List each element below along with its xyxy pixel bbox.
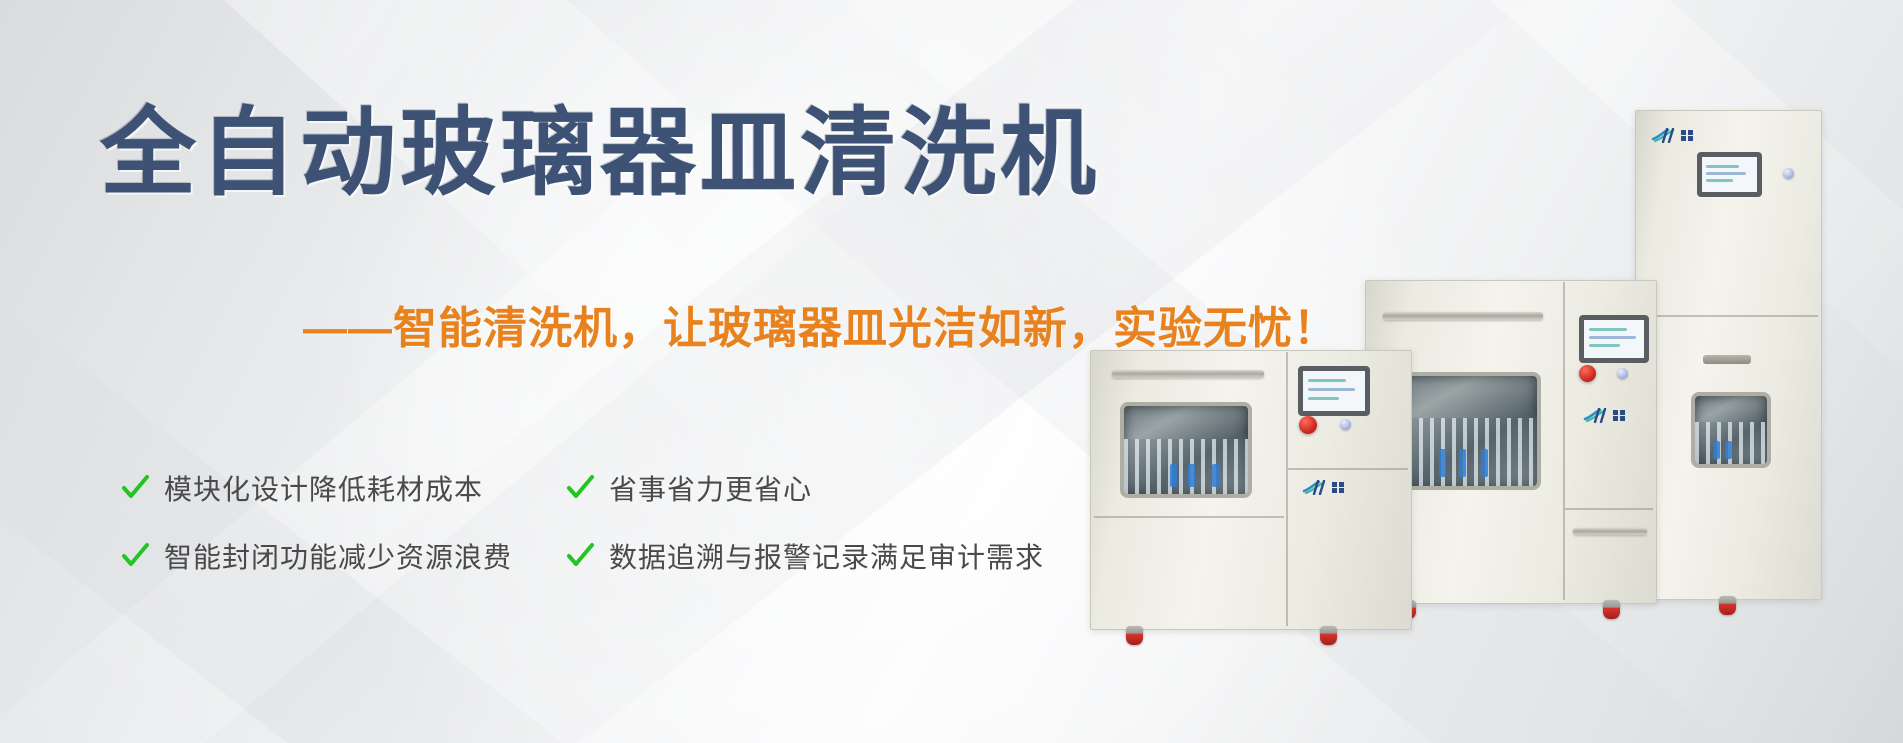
brand-mark-icon bbox=[1583, 408, 1609, 423]
glassware-item bbox=[1481, 449, 1488, 478]
caster-wheel bbox=[1126, 626, 1143, 645]
brand-squares-icon bbox=[1613, 410, 1625, 422]
glassware-item bbox=[1439, 449, 1446, 478]
lower-drawer-handle[interactable] bbox=[1573, 528, 1647, 535]
indicator-light bbox=[1783, 168, 1794, 179]
control-touchscreen[interactable] bbox=[1298, 366, 1370, 416]
screen-content-line bbox=[1589, 336, 1636, 339]
brand-logo bbox=[1583, 408, 1625, 423]
feature-row: 模块化设计降低耗材成本 省事省力更省心 bbox=[120, 468, 1120, 508]
glassware-load bbox=[1124, 439, 1248, 494]
cabinet-seam bbox=[1286, 352, 1288, 626]
glassware-item bbox=[1713, 441, 1720, 459]
glassware-load bbox=[1397, 418, 1537, 486]
cabinet-seam bbox=[1288, 468, 1408, 470]
feature-label: 模块化设计降低耗材成本 bbox=[164, 468, 483, 508]
screen-content-line bbox=[1589, 344, 1620, 347]
caster-wheel bbox=[1719, 596, 1736, 615]
screen-content-line bbox=[1706, 165, 1739, 168]
brand-logo bbox=[1651, 128, 1693, 143]
indicator-light bbox=[1340, 419, 1351, 430]
glassware-item bbox=[1212, 464, 1219, 487]
brand-mark-icon bbox=[1651, 128, 1677, 143]
glassware-item bbox=[1725, 441, 1732, 459]
emergency-stop-button[interactable] bbox=[1579, 365, 1596, 382]
check-icon bbox=[565, 541, 595, 571]
product-banner: 全自动玻璃器皿清洗机 ——智能清洗机，让玻璃器皿光洁如新，实验无忧！ 模块化设计… bbox=[0, 0, 1903, 743]
screen-content-line bbox=[1706, 172, 1746, 175]
feature-label: 数据追溯与报警记录满足审计需求 bbox=[609, 536, 1044, 576]
product-image-group bbox=[1090, 110, 1903, 743]
caster-wheel bbox=[1320, 626, 1337, 645]
cabinet-seam bbox=[1565, 508, 1653, 510]
indicator-light bbox=[1617, 368, 1628, 379]
feature-list: 模块化设计降低耗材成本 省事省力更省心 bbox=[120, 468, 1120, 604]
glassware-item bbox=[1188, 464, 1195, 487]
screen-content-line bbox=[1308, 397, 1339, 400]
feature-item: 智能封闭功能减少资源浪费 bbox=[120, 536, 565, 576]
screen-content-line bbox=[1706, 179, 1732, 182]
screen-content-line bbox=[1589, 328, 1627, 331]
door-handle[interactable] bbox=[1112, 370, 1264, 378]
feature-label: 智能封闭功能减少资源浪费 bbox=[164, 536, 512, 576]
feature-item: 省事省力更省心 bbox=[565, 468, 1035, 508]
screen-content-line bbox=[1308, 388, 1355, 391]
viewing-window bbox=[1691, 392, 1771, 468]
banner-headline: 全自动玻璃器皿清洗机 bbox=[100, 100, 1100, 208]
product-undercounter-glassware-washer bbox=[1090, 350, 1410, 640]
viewing-window bbox=[1393, 372, 1541, 490]
check-icon bbox=[565, 473, 595, 503]
brand-mark-icon bbox=[1302, 480, 1328, 495]
product-tall-column-glassware-washer bbox=[1635, 110, 1820, 605]
door-handle[interactable] bbox=[1383, 312, 1543, 320]
feature-item: 数据追溯与报警记录满足审计需求 bbox=[565, 536, 1035, 576]
glassware-item bbox=[1170, 464, 1177, 487]
cabinet-seam bbox=[1094, 516, 1284, 518]
emergency-stop-button[interactable] bbox=[1299, 416, 1317, 434]
cabinet-seam bbox=[1637, 315, 1818, 317]
check-icon bbox=[120, 473, 150, 503]
brand-squares-icon bbox=[1332, 482, 1344, 494]
control-touchscreen[interactable] bbox=[1579, 315, 1649, 363]
feature-label: 省事省力更省心 bbox=[609, 468, 812, 508]
cabinet-seam bbox=[1563, 282, 1565, 600]
control-touchscreen[interactable] bbox=[1697, 152, 1762, 197]
glassware-item bbox=[1459, 449, 1466, 478]
feature-row: 智能封闭功能减少资源浪费 数据追溯与报警记录满足审计需求 bbox=[120, 536, 1120, 576]
viewing-window bbox=[1120, 402, 1252, 498]
screen-content-line bbox=[1308, 379, 1346, 382]
check-icon bbox=[120, 541, 150, 571]
caster-wheel bbox=[1603, 600, 1620, 619]
brand-squares-icon bbox=[1681, 130, 1693, 142]
vent-slot bbox=[1703, 355, 1751, 364]
feature-item: 模块化设计降低耗材成本 bbox=[120, 468, 565, 508]
brand-logo bbox=[1302, 480, 1344, 495]
